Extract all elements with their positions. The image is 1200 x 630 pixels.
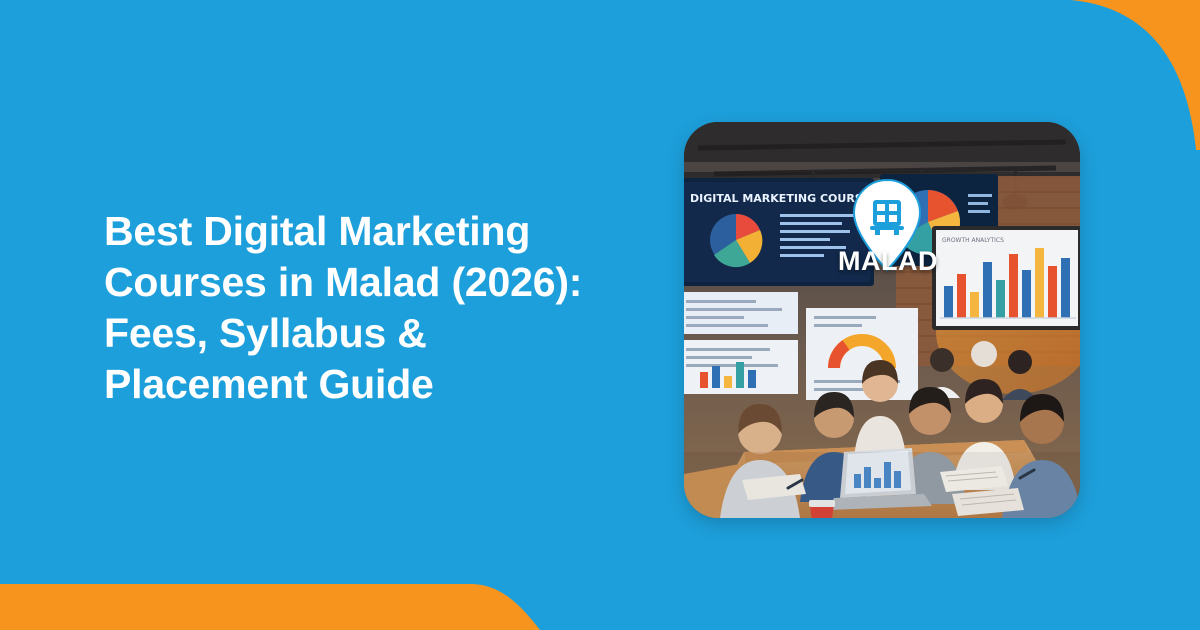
location-label: MALAD xyxy=(828,246,948,277)
banner-canvas: Best Digital Marketing Courses in Malad … xyxy=(0,0,1200,630)
headline-line-2: Courses in Malad (2026): xyxy=(104,257,664,308)
headline-line-3: Fees, Syllabus & xyxy=(104,308,664,359)
decorative-corner-bottom-left xyxy=(0,560,560,630)
svg-text:GROWTH ANALYTICS: GROWTH ANALYTICS xyxy=(942,237,1004,244)
svg-text:DIGITAL MARKETING COURSE: DIGITAL MARKETING COURSE xyxy=(690,192,870,205)
headline-line-1: Best Digital Marketing xyxy=(104,206,664,257)
page-title: Best Digital Marketing Courses in Malad … xyxy=(104,206,664,410)
presentation-screen-right: GROWTH ANALYTICS xyxy=(932,226,1080,330)
wall-poster-left xyxy=(684,292,798,394)
wall-poster-middle xyxy=(806,308,918,400)
building-icon xyxy=(870,200,904,235)
headline-line-4: Placement Guide xyxy=(104,359,664,410)
